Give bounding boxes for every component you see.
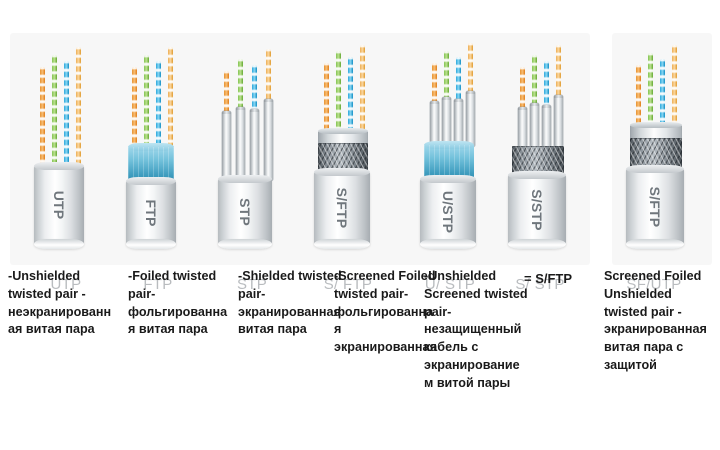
cable-illustration-utp: UTP: [18, 33, 114, 248]
jacket-top-lip: [314, 168, 370, 176]
wire-green: [144, 55, 149, 151]
cable-label-sf-utp: S/FTP: [647, 186, 663, 227]
wire-orange: [636, 65, 641, 127]
pair-foil-tube: [250, 109, 259, 181]
cable-label-u-stp: U/STP: [440, 190, 456, 232]
jacket-top-lip: [626, 165, 684, 173]
collar-lip: [630, 122, 682, 128]
column-stp: STP STP: [204, 33, 300, 273]
cable-label-ftp: FTP: [143, 199, 159, 226]
wire-green: [336, 51, 341, 133]
pair-foil-tube: [222, 111, 231, 181]
column-u-stp: U/STP U/ STP: [396, 33, 492, 273]
jacket-bottom: [126, 239, 176, 249]
jacket-bottom: [420, 239, 476, 249]
inner-foil-collar: [630, 125, 682, 139]
wire-blue: [252, 65, 257, 111]
cable-jacket-sf-utp: S/FTP: [626, 169, 684, 244]
cable-illustration-s-ftp: S/FTP: [300, 33, 396, 248]
collar-lip: [318, 128, 368, 134]
cable-jacket-utp: UTP: [34, 166, 84, 244]
jacket-top-lip: [508, 171, 566, 179]
column-utp: UTP UTP: [18, 33, 114, 273]
cable-jacket-s-ftp: S/FTP: [314, 172, 370, 244]
pair-foil-tube: [442, 97, 451, 147]
pair-foil-tube: [466, 91, 475, 147]
wire-tan: [360, 45, 365, 133]
cable-label-s-stp: S/STP: [529, 189, 545, 230]
jacket-top-lip: [126, 177, 176, 185]
jacket-bottom: [314, 239, 370, 249]
wire-orange: [40, 67, 45, 170]
jacket-bottom: [626, 239, 684, 249]
jacket-top-lip: [34, 162, 84, 170]
wire-blue: [456, 57, 461, 101]
wire-green: [238, 59, 243, 109]
description-stp: -Shielded twisted pair-экранированная ви…: [238, 268, 342, 339]
jacket-top-lip: [420, 175, 476, 183]
description-s-ftp: -Screened Foiled twisted pair-фольгирова…: [334, 268, 438, 357]
pair-foil-tube: [542, 105, 551, 147]
cable-illustration-u-stp: U/STP: [396, 33, 492, 248]
cable-jacket-ftp: FTP: [126, 181, 176, 244]
wire-orange: [224, 71, 229, 113]
wire-tan: [672, 45, 677, 127]
pair-foil-tube: [518, 107, 527, 147]
jacket-top-lip: [218, 175, 272, 183]
wire-tan: [266, 49, 271, 101]
jacket-bottom: [508, 239, 566, 249]
wire-orange: [432, 63, 437, 103]
diagram-root: UTP UTP FTP FTP: [0, 0, 720, 450]
wire-orange: [324, 63, 329, 133]
cable-illustration-stp: STP: [204, 33, 300, 248]
cable-illustration-s-stp: S/STP: [496, 33, 592, 248]
cable-illustration-ftp: FTP: [110, 33, 206, 248]
cable-jacket-u-stp: U/STP: [420, 179, 476, 244]
wire-blue: [348, 57, 353, 133]
jacket-bottom: [218, 239, 272, 249]
description-sf-utp: Screened Foiled Unshielded twisted pair …: [604, 268, 714, 375]
pair-foil-tube: [530, 103, 539, 147]
cable-jacket-stp: STP: [218, 179, 272, 244]
column-sf-utp: S/FTP SF/UTP: [614, 33, 710, 273]
column-ftp: FTP FTP: [110, 33, 206, 273]
cable-illustration-sf-utp: S/FTP: [614, 33, 710, 248]
wire-green: [648, 53, 653, 127]
wire-green: [52, 55, 57, 170]
wire-orange: [132, 67, 137, 151]
cable-jacket-s-stp: S/STP: [508, 175, 566, 244]
column-s-ftp: S/FTP S/ FTP: [300, 33, 396, 273]
jacket-bottom: [34, 239, 84, 249]
wire-blue: [544, 61, 549, 107]
pair-foil-tube: [236, 107, 245, 181]
pair-foil-tube: [264, 99, 273, 181]
column-s-stp: S/STP S/ STP: [496, 33, 592, 273]
wire-orange: [520, 67, 525, 109]
wire-blue: [64, 61, 69, 170]
pair-foil-tube: [554, 95, 563, 147]
description-s-stp: = S/FTP: [524, 270, 604, 288]
cable-label-s-ftp: S/FTP: [334, 188, 350, 229]
wire-blue: [660, 59, 665, 127]
description-ftp: -Foiled twisted pair-фольгированная вита…: [128, 268, 232, 339]
cable-label-stp: STP: [237, 198, 253, 226]
foil-cap: [424, 141, 474, 149]
wire-tan: [168, 47, 173, 151]
wire-blue: [156, 61, 161, 151]
wire-green: [532, 55, 537, 107]
description-u-stp: -Unshielded Screened twisted pair-незащи…: [424, 268, 528, 393]
foil-cap: [128, 143, 174, 151]
wire-green: [444, 51, 449, 101]
description-utp: -Unshielded twisted pair - неэкранирован…: [8, 268, 112, 339]
wire-tan: [76, 47, 81, 170]
cable-label-utp: UTP: [51, 191, 67, 220]
pair-foil-tube: [454, 99, 463, 147]
